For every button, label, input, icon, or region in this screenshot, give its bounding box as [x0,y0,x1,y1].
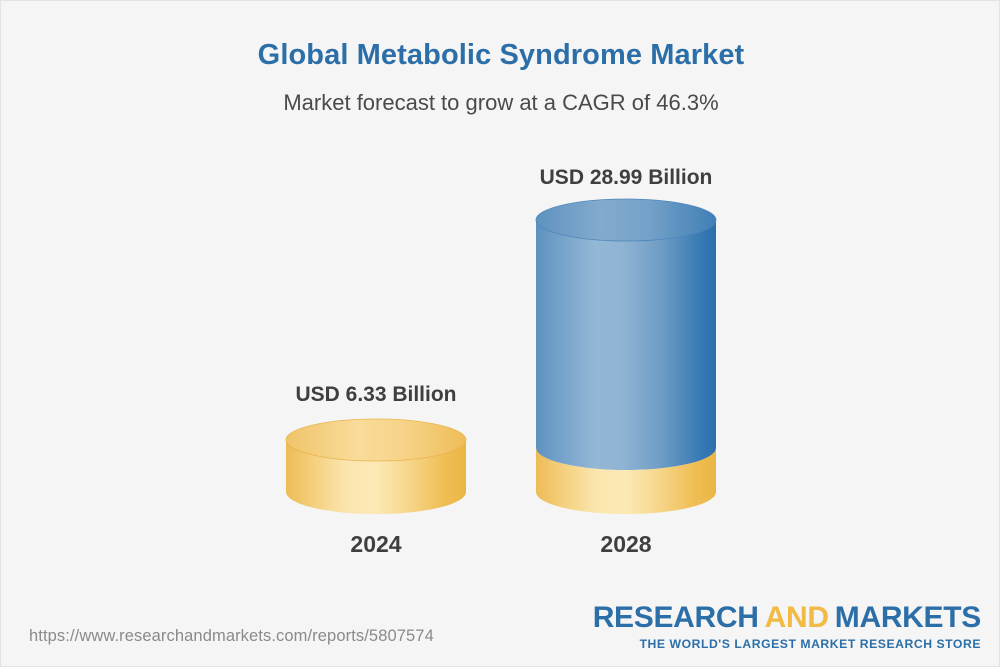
cylinder-2024-top [286,419,466,461]
cylinder-2028-blue-body [536,220,716,470]
plot-area: USD 6.33 Billion [1,1,1000,601]
value-label-2024: USD 6.33 Billion [284,383,468,407]
brand-word-and: AND [765,601,829,634]
brand-logo-wordmark: RESEARCHANDMARKETS [593,603,981,633]
cylinder-2028-svg [534,198,718,518]
cylinder-2024 [284,418,468,518]
brand-word-research: RESEARCH [593,601,759,634]
footer: https://www.researchandmarkets.com/repor… [1,594,1000,666]
cylinder-2028-top [536,199,716,241]
source-url[interactable]: https://www.researchandmarkets.com/repor… [29,627,434,646]
cylinder-2024-svg [284,418,468,518]
cylinder-2028 [534,198,718,518]
brand-tagline: THE WORLD'S LARGEST MARKET RESEARCH STOR… [593,638,981,650]
chart-canvas: Global Metabolic Syndrome Market Market … [0,0,1000,667]
category-label-2028: 2028 [534,531,718,558]
category-label-2024: 2024 [284,531,468,558]
brand-word-markets: MARKETS [835,601,981,634]
value-label-2028: USD 28.99 Billion [534,166,718,190]
brand-logo[interactable]: RESEARCHANDMARKETS THE WORLD'S LARGEST M… [593,603,981,650]
